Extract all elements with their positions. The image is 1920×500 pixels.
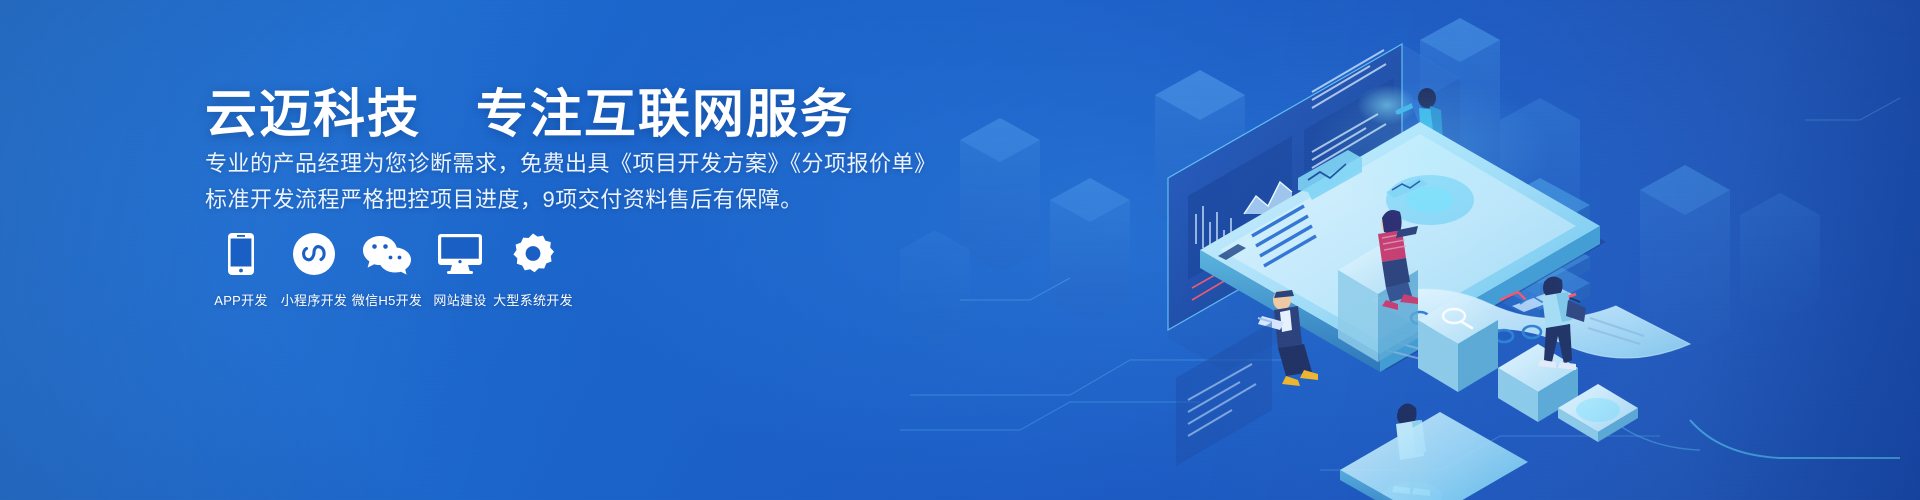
banner-subtitle-line-1: 专业的产品经理为您诊断需求，免费出具《项目开发方案》《分项报价单》 [205, 146, 937, 178]
service-item-large-system[interactable]: 大型系统开发 [497, 232, 569, 309]
service-label: 小程序开发 [281, 290, 348, 309]
tablet-platform [1340, 412, 1528, 500]
service-label: 网站建设 [433, 290, 486, 309]
service-item-mini-program[interactable]: 小程序开发 [278, 232, 350, 309]
isometric-tech-illustration [900, 0, 1920, 500]
wechat-icon [363, 232, 411, 276]
service-item-website[interactable]: 网站建设 [424, 232, 496, 309]
headline-brand: 云迈科技 [205, 86, 421, 144]
service-label: 微信H5开发 [352, 290, 422, 309]
service-label: APP开发 [214, 290, 268, 309]
banner-content: 云迈科技 专注互联网服务 专业的产品经理为您诊断需求，免费出具《项目开发方案》《… [205, 0, 965, 500]
headline-tagline: 专注互联网服务 [476, 86, 854, 144]
floor-glow-path [1690, 420, 1900, 458]
monitor-icon [438, 232, 482, 276]
service-label: 大型系统开发 [493, 290, 573, 309]
hero-banner: 云迈科技 专注互联网服务 专业的产品经理为您诊断需求，免费出具《项目开发方案》《… [0, 0, 1920, 500]
service-list: APP开发 小程序开发 [205, 232, 569, 309]
gear-icon [512, 232, 554, 276]
service-item-app[interactable]: APP开发 [205, 232, 277, 309]
banner-headline: 云迈科技 专注互联网服务 [205, 72, 854, 147]
banner-subtitle-line-2: 标准开发流程严格把控项目进度，9项交付资料售后有保障。 [205, 182, 803, 214]
mini-program-icon [293, 232, 335, 276]
service-item-wechat-h5[interactable]: 微信H5开发 [351, 232, 423, 309]
mobile-phone-icon [228, 232, 254, 276]
